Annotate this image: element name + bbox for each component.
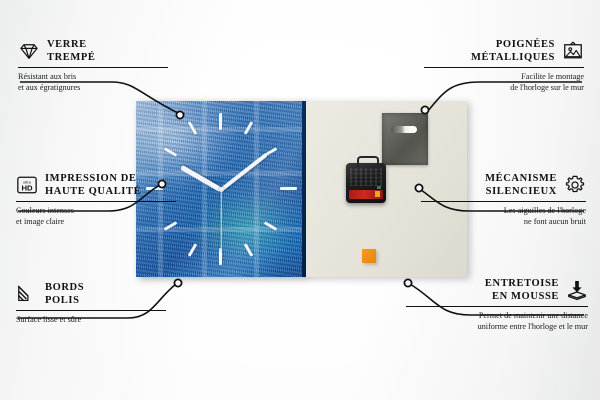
clock-tick	[164, 147, 178, 157]
product-image	[136, 101, 467, 277]
callout-subtitle: Résistant aux bris et aux égratignures	[18, 72, 168, 93]
callout-subtitle: Facilite le montage de l'horloge sur le …	[424, 72, 584, 93]
callout-entretoise-en-mousse[interactable]: ENTRETOISE EN MOUSSE Permet de maintenir…	[406, 277, 588, 332]
callout-subtitle: Permet de maintenir une distance uniform…	[406, 311, 588, 332]
gear-icon	[564, 174, 586, 196]
battery	[349, 190, 383, 199]
clock-center-cap	[219, 187, 224, 192]
clock-mechanism	[346, 163, 386, 203]
callout-subtitle: Surface lisse et sûre	[16, 315, 166, 326]
mechanism-contact	[377, 186, 381, 189]
polished-edges-icon	[16, 283, 38, 305]
clock-tick	[188, 243, 198, 257]
callout-divider	[406, 306, 588, 307]
mechanism-texture	[350, 168, 382, 186]
foam-spacer-arrow-icon	[566, 279, 588, 301]
callout-divider	[16, 201, 176, 202]
callout-title: BORDS POLIS	[45, 281, 84, 307]
metal-hanger-plate	[382, 113, 428, 165]
callout-title: MÉCANISME SILENCIEUX	[485, 172, 557, 198]
svg-text:HD: HD	[21, 184, 33, 193]
callout-title: POIGNÉES MÉTALLIQUES	[471, 38, 555, 64]
infographic-canvas: VERRE TREMPÉ Résistant aux bris et aux é…	[0, 0, 600, 400]
foam-spacer	[362, 249, 376, 263]
clock-second-hand	[220, 190, 221, 252]
callout-title: ENTRETOISE EN MOUSSE	[485, 277, 559, 303]
clock-tick	[280, 187, 297, 190]
diamond-icon	[18, 40, 40, 62]
picture-frame-hook-icon	[562, 40, 584, 62]
connector-dot-bords-polis	[174, 279, 181, 286]
clock-tick	[219, 113, 222, 130]
clock-tick	[244, 243, 254, 257]
callout-verre-trempe[interactable]: VERRE TREMPÉ Résistant aux bris et aux é…	[18, 38, 168, 93]
mechanism-hanging-loop	[357, 156, 379, 167]
callout-mecanisme-silencieux[interactable]: MÉCANISME SILENCIEUX Les aiguilles de l'…	[421, 172, 586, 227]
callout-divider	[421, 201, 586, 202]
callout-impression-haute-qualite[interactable]: ultra HD IMPRESSION DE HAUTE QUALITÉ Cou…	[16, 172, 176, 227]
callout-bords-polis[interactable]: BORDS POLIS Surface lisse et sûre	[16, 281, 166, 326]
callout-title: VERRE TREMPÉ	[47, 38, 96, 64]
callout-divider	[18, 67, 168, 68]
callout-subtitle: Couleurs intenses et image claire	[16, 206, 176, 227]
callout-divider	[424, 67, 584, 68]
ultra-hd-icon: ultra HD	[16, 174, 38, 196]
callout-title: IMPRESSION DE HAUTE QUALITÉ	[45, 172, 141, 198]
callout-poignees-metalliques[interactable]: POIGNÉES MÉTALLIQUES Facilite le montage…	[424, 38, 584, 93]
callout-divider	[16, 310, 166, 311]
callout-subtitle: Les aiguilles de l'horloge ne font aucun…	[421, 206, 586, 227]
hanger-keyhole-slot	[391, 126, 417, 133]
